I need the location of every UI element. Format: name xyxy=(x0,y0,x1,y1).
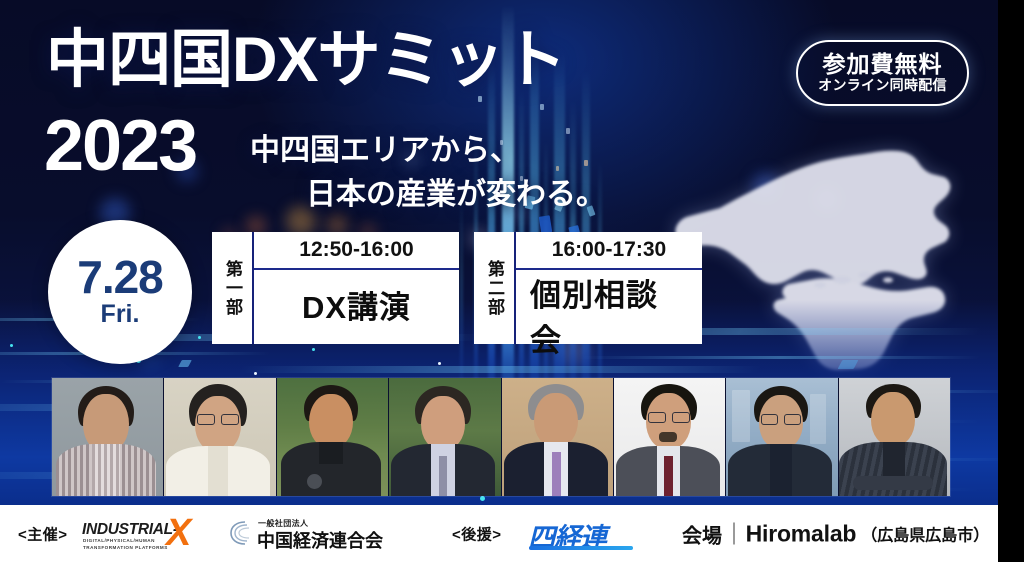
chugoku-keizai-rengokai-logo: 一般社団法人 中国経済連合会 xyxy=(228,516,378,552)
session-body: 16:00-17:30 個別相談会 xyxy=(516,232,702,344)
poster-artwork: 中四国DXサミット 2023 中四国エリアから、 日本の産業が変わる。 参加費無… xyxy=(0,0,998,562)
venue-place: （広島県広島市） xyxy=(861,522,989,546)
poster-footer: <主催> INDUSTRIAL- DIGITAL/PHYSICAL/HUMAN … xyxy=(0,505,998,562)
industrial-x-logo: INDUSTRIAL- DIGITAL/PHYSICAL/HUMAN TRANS… xyxy=(82,516,206,552)
badge-primary-text: 参加費無料 xyxy=(823,52,943,78)
session-body: 12:50-16:00 DX講演 xyxy=(254,232,459,344)
event-date-day: 7.28 xyxy=(77,255,163,299)
speaker-photo xyxy=(501,378,613,496)
event-date-badge: 7.28 Fri. xyxy=(48,220,192,364)
session-part-label: 第一部 xyxy=(212,232,254,344)
speaker-photo xyxy=(276,378,388,496)
speaker-photo xyxy=(725,378,837,496)
speaker-photo xyxy=(838,378,950,496)
tagline-line-2: TRANSFORMATION PLATFORMS xyxy=(83,544,168,551)
poster-title: 中四国DXサミット xyxy=(46,28,566,92)
shikeiren-logo: 四経連 xyxy=(528,515,638,553)
industrial-x-mark-icon: X xyxy=(166,514,191,552)
tagline-line-1: DIGITAL/PHYSICAL/HUMAN xyxy=(83,537,168,544)
badge-secondary-text: オンライン同時配信 xyxy=(818,77,947,94)
speaker-photo xyxy=(613,378,725,496)
session-item: 第二部 16:00-17:30 個別相談会 xyxy=(474,232,702,344)
venue-separator xyxy=(733,523,735,545)
free-admission-badge: 参加費無料 オンライン同時配信 xyxy=(796,40,969,106)
shikeiren-underline xyxy=(529,546,633,550)
session-title: 個別相談会 xyxy=(516,270,702,366)
speaker-photo xyxy=(388,378,500,496)
subtitle-line-2: 日本の産業が変わる。 xyxy=(250,173,606,217)
venue-info: 会場 Hiromalab （広島県広島市） xyxy=(682,519,989,548)
speaker-photo xyxy=(52,378,163,496)
venue-label: 会場 xyxy=(682,519,722,548)
support-label: <後援> xyxy=(452,523,502,544)
speaker-photo-strip xyxy=(52,378,950,496)
poster-subtitle: 中四国エリアから、 日本の産業が変わる。 xyxy=(250,129,606,216)
event-date-weekday: Fri. xyxy=(101,301,140,329)
poster-year: 2023 xyxy=(44,110,196,182)
session-title: DX講演 xyxy=(254,270,459,344)
session-time: 16:00-17:30 xyxy=(516,232,702,270)
industrial-x-tagline: DIGITAL/PHYSICAL/HUMAN TRANSFORMATION PL… xyxy=(83,537,168,551)
swirl-mark-icon xyxy=(228,519,254,547)
session-part-label: 第二部 xyxy=(474,232,516,344)
session-item: 第一部 12:50-16:00 DX講演 xyxy=(212,232,459,344)
org-name: 中国経済連合会 xyxy=(257,527,383,553)
speaker-photo xyxy=(163,378,275,496)
host-label: <主催> xyxy=(18,523,68,544)
right-edge-black-bar xyxy=(998,0,1024,562)
session-time: 12:50-16:00 xyxy=(254,232,459,270)
session-list: 第一部 12:50-16:00 DX講演 第二部 16:00-17:30 個別相… xyxy=(212,232,702,344)
subtitle-line-1: 中四国エリアから、 xyxy=(250,134,520,167)
poster-root: 中四国DXサミット 2023 中四国エリアから、 日本の産業が変わる。 参加費無… xyxy=(0,0,1024,562)
venue-name: Hiromalab xyxy=(746,520,857,547)
